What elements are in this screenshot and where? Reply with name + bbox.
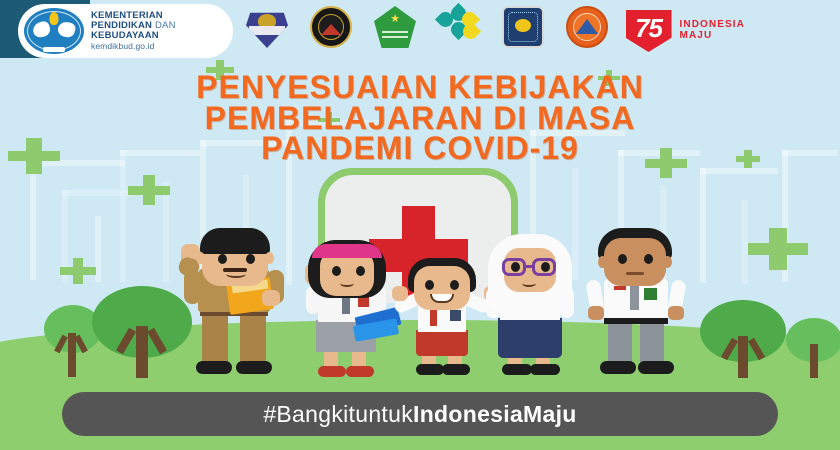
kemdikbud-logo-badge: KEMENTERIAN PENDIDIKAN DAN KEBUDAYAAN ke… <box>18 4 233 58</box>
tree-bush-right <box>786 318 840 378</box>
tree-right <box>700 300 786 380</box>
kemdikbud-line3: KEBUDAYAAN <box>91 31 176 41</box>
green-cross-icon <box>748 228 808 270</box>
logo-pemerintah-daerah <box>246 6 288 48</box>
character-student-male-senior <box>580 228 692 380</box>
green-cross-icon <box>128 175 170 205</box>
kemdikbud-url: kemdikbud.go.id <box>91 42 176 51</box>
logo-kemendagri <box>310 6 352 48</box>
kemdikbud-seal-icon <box>24 8 84 54</box>
hashtag-band: #BangkituntukIndonesiaMaju <box>0 378 840 450</box>
headline-line-3: PANDEMI COVID-19 <box>0 133 840 164</box>
hashtag-bold-part: IndonesiaMaju <box>413 401 577 427</box>
banner-root: KEMENTERIAN PENDIDIKAN DAN KEBUDAYAAN ke… <box>0 0 840 450</box>
character-student-female-junior <box>294 238 398 380</box>
headline: PENYESUAIAN KEBIJAKAN PEMBELAJARAN DI MA… <box>0 72 840 164</box>
logo-bnpb <box>566 6 608 48</box>
hashtag-pill: #BangkituntukIndonesiaMaju <box>62 392 778 436</box>
headline-line-1: PENYESUAIAN KEBIJAKAN <box>0 72 840 103</box>
logo-gugus-tugas <box>502 6 544 48</box>
character-teacher-male <box>178 228 296 378</box>
partner-logos-group: ★ <box>246 6 608 48</box>
header-bar: KEMENTERIAN PENDIDIKAN DAN KEBUDAYAAN ke… <box>0 0 840 64</box>
logo-kementerian-kesehatan <box>438 6 480 48</box>
hashtag-light-part: #Bangkituntuk <box>263 401 413 427</box>
green-cross-icon <box>60 258 96 284</box>
indonesia-maju-line2: MAJU <box>680 31 745 42</box>
character-student-female-hijab <box>474 234 586 382</box>
logo-kementerian-agama: ★ <box>374 6 416 48</box>
indonesia-maju-logo: 75 INDONESIA MAJU <box>626 10 745 52</box>
headline-line-2: PEMBELAJARAN DI MASA <box>0 103 840 134</box>
tree-large-left <box>92 286 192 378</box>
indonesia-maju-number: 75 <box>626 10 672 52</box>
indonesia-maju-shield-icon: 75 <box>626 10 672 52</box>
